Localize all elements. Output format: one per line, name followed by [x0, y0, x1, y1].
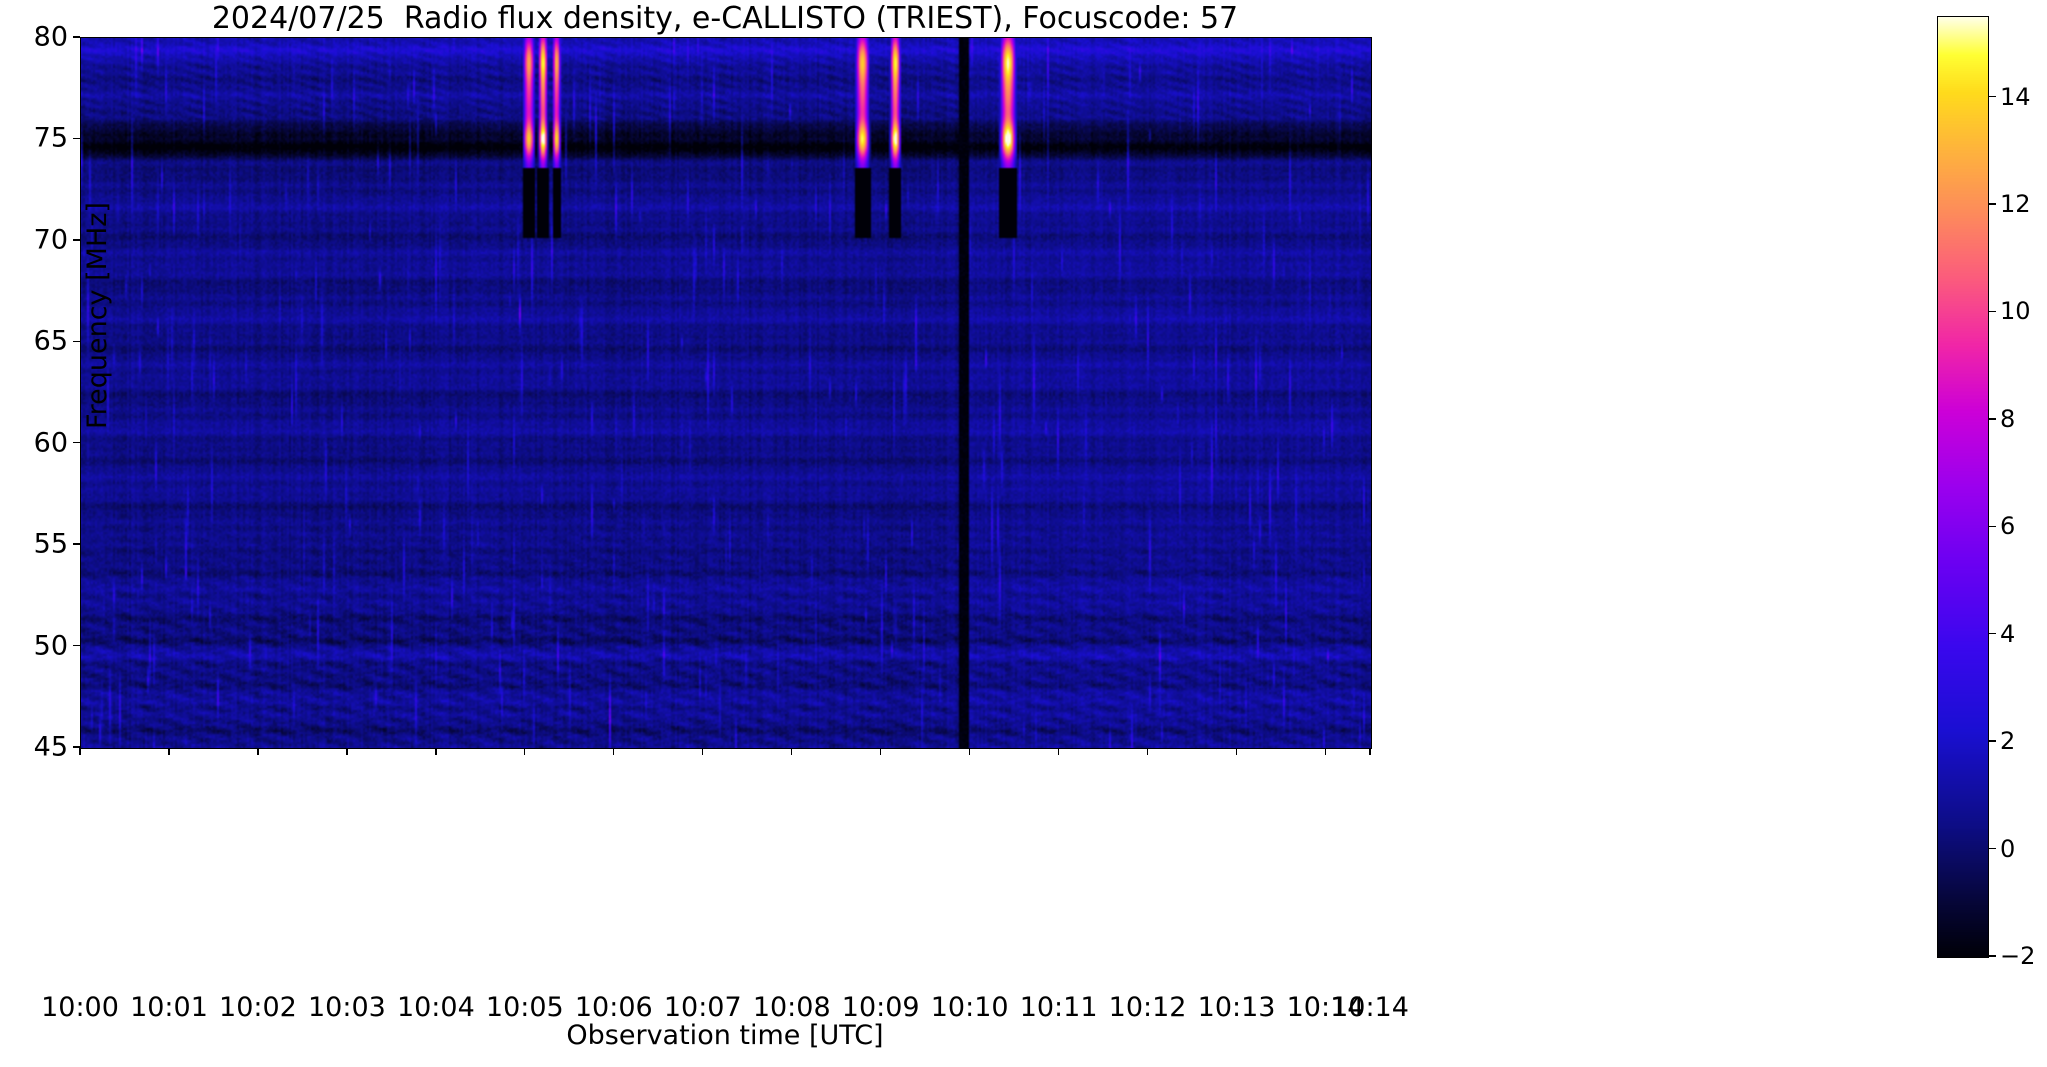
y-tick-mark — [73, 442, 80, 443]
colorbar-tick-label: 14 — [2000, 83, 2031, 111]
spectrogram-axes[interactable] — [80, 37, 1372, 749]
y-tick-label: 70 — [0, 224, 68, 255]
x-tick-label: 10:09 — [842, 992, 920, 1023]
page-title: 2024/07/25 Radio flux density, e-CALLIST… — [80, 2, 1370, 36]
colorbar-tick-label: 2 — [2000, 727, 2015, 755]
x-tick-label: 10:06 — [575, 992, 653, 1023]
x-tick-label: 10:11 — [1020, 992, 1098, 1023]
y-axis-label: Frequency [MHz] — [82, 202, 113, 429]
colorbar-tick-mark — [1989, 311, 1996, 312]
x-tick-label: 10:05 — [486, 992, 564, 1023]
x-tick-mark — [1058, 748, 1059, 755]
y-tick-label: 75 — [0, 123, 68, 154]
x-tick-mark — [1147, 748, 1148, 755]
y-tick-mark — [73, 239, 80, 240]
x-tick-label: 10:07 — [664, 992, 742, 1023]
x-tick-mark — [1369, 748, 1370, 755]
x-tick-mark — [524, 748, 525, 755]
x-tick-mark — [702, 748, 703, 755]
colorbar-tick-mark — [1989, 955, 1996, 956]
y-tick-label: 60 — [0, 427, 68, 458]
x-tick-mark — [791, 748, 792, 755]
colorbar-tick-label: 6 — [2000, 512, 2015, 540]
y-tick-mark — [73, 36, 80, 37]
x-tick-mark — [257, 748, 258, 755]
colorbar-tick-mark — [1989, 740, 1996, 741]
colorbar-tick-mark — [1989, 526, 1996, 527]
x-tick-mark — [880, 748, 881, 755]
y-tick-mark — [73, 543, 80, 544]
x-tick-label: 10:08 — [753, 992, 831, 1023]
y-tick-label: 65 — [0, 326, 68, 357]
colorbar-tick-mark — [1989, 848, 1996, 849]
colorbar-tick-mark — [1989, 633, 1996, 634]
x-tick-mark — [168, 748, 169, 755]
x-tick-label: 10:13 — [1198, 992, 1276, 1023]
x-tick-mark — [969, 748, 970, 755]
x-tick-label: 10:12 — [1109, 992, 1187, 1023]
x-tick-mark — [1236, 748, 1237, 755]
x-tick-label: 10:02 — [219, 992, 297, 1023]
x-tick-label: 10:03 — [308, 992, 386, 1023]
y-tick-label: 80 — [0, 22, 68, 53]
colorbar-tick-label: 0 — [2000, 835, 2015, 863]
y-tick-mark — [73, 341, 80, 342]
x-tick-mark — [435, 748, 436, 755]
colorbar-tick-mark — [1989, 418, 1996, 419]
y-tick-label: 55 — [0, 529, 68, 560]
x-tick-mark — [346, 748, 347, 755]
colorbar-tick-mark — [1989, 203, 1996, 204]
colorbar-tick-label: 8 — [2000, 405, 2015, 433]
x-tick-mark — [1325, 748, 1326, 755]
x-tick-label: 10:10 — [931, 992, 1009, 1023]
y-tick-label: 45 — [0, 732, 68, 763]
spectrogram-image — [81, 38, 1371, 748]
x-tick-label: 10:04 — [397, 992, 475, 1023]
colorbar-tick-label: −2 — [2000, 942, 2035, 970]
colorbar-axes[interactable] — [1937, 16, 1989, 958]
figure-canvas: 2024/07/25 Radio flux density, e-CALLIST… — [0, 0, 2047, 1067]
x-tick-label: 10:00 — [41, 992, 119, 1023]
colorbar-tick-mark — [1989, 96, 1996, 97]
x-tick-label: 10:14 — [1331, 992, 1409, 1023]
x-tick-mark — [613, 748, 614, 755]
y-tick-mark — [73, 645, 80, 646]
y-tick-mark — [73, 138, 80, 139]
colorbar-tick-label: 4 — [2000, 620, 2015, 648]
colorbar-tick-label: 10 — [2000, 297, 2031, 325]
y-tick-label: 50 — [0, 630, 68, 661]
colorbar-gradient — [1938, 17, 1988, 957]
x-axis-label: Observation time [UTC] — [80, 1020, 1370, 1051]
colorbar-tick-label: 12 — [2000, 190, 2031, 218]
x-tick-mark — [79, 748, 80, 755]
x-tick-label: 10:01 — [130, 992, 208, 1023]
